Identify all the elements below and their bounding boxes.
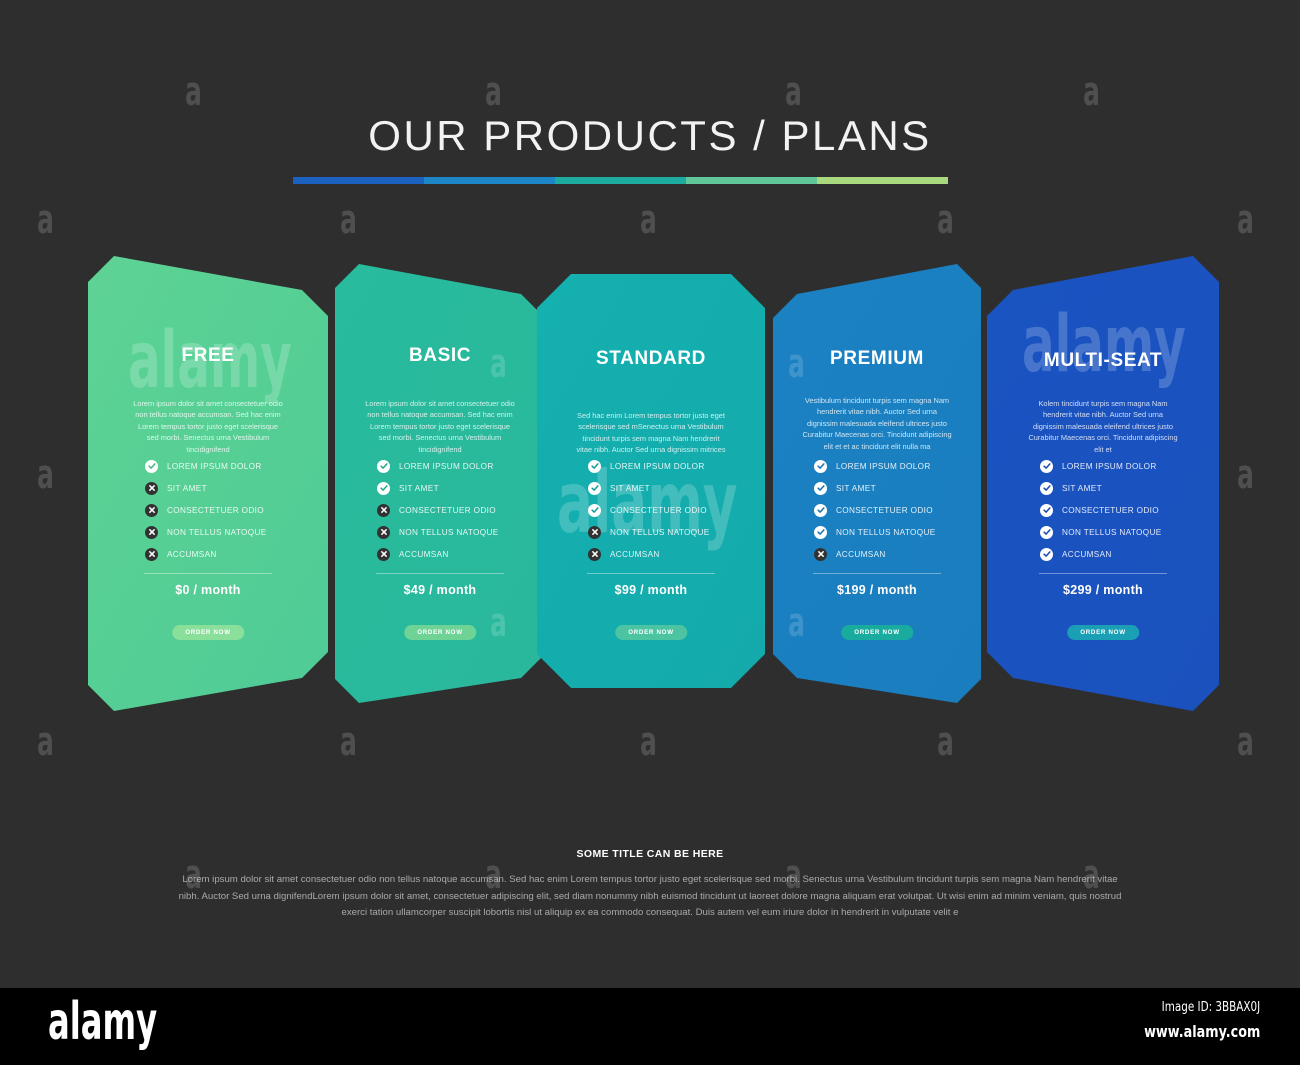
feature-row: NON TELLUS NATOQUE xyxy=(145,521,295,543)
feature-label: CONSECTETUER ODIO xyxy=(610,506,707,515)
alamy-watermark-overlay: alamy xyxy=(1022,306,1186,384)
cross-icon xyxy=(145,548,158,561)
gradient-divider-bar xyxy=(293,177,948,184)
feature-label: ACCUMSAN xyxy=(610,550,660,559)
feature-label: CONSECTETUER ODIO xyxy=(836,506,933,515)
watermark-glyph: a xyxy=(788,603,805,643)
pricing-card-free[interactable]: alamyFREELorem ipsum dolor sit amet cons… xyxy=(88,248,328,717)
feature-row: LOREM IPSUM DOLOR xyxy=(145,455,295,477)
feature-label: SIT AMET xyxy=(167,484,207,493)
watermark-glyph: a xyxy=(340,200,357,240)
gradient-segment-2 xyxy=(424,177,555,184)
cross-icon xyxy=(588,526,601,539)
cross-icon xyxy=(145,504,158,517)
check-icon xyxy=(377,460,390,473)
check-icon xyxy=(377,482,390,495)
card-description: Lorem ipsum dolor sit amet consectetuer … xyxy=(133,398,283,455)
feature-row: CONSECTETUER ODIO xyxy=(588,499,738,521)
feature-list: LOREM IPSUM DOLORSIT AMETCONSECTETUER OD… xyxy=(588,455,738,565)
check-icon xyxy=(814,460,827,473)
feature-label: NON TELLUS NATOQUE xyxy=(836,528,936,537)
feature-label: SIT AMET xyxy=(399,484,439,493)
watermark-glyph: a xyxy=(785,72,802,112)
check-icon xyxy=(814,482,827,495)
cross-icon xyxy=(377,548,390,561)
pricing-card-multi-seat[interactable]: alamyMULTI-SEATKolem tincidunt turpis se… xyxy=(987,248,1219,717)
watermark-glyph: a xyxy=(1083,72,1100,112)
card-price: $99 / month xyxy=(537,583,765,597)
card-title: BASIC xyxy=(335,345,545,367)
feature-label: ACCUMSAN xyxy=(1062,550,1112,559)
cross-icon xyxy=(814,548,827,561)
footer: SOME TITLE CAN BE HERE Lorem ipsum dolor… xyxy=(0,848,1300,922)
feature-row: CONSECTETUER ODIO xyxy=(1040,499,1190,521)
watermark-glyph: a xyxy=(37,722,54,762)
image-id-label: Image ID: 3BBAX0J xyxy=(1161,1000,1260,1015)
pricing-card-standard[interactable]: alamySTANDARDSed hac enim Lorem tempus t… xyxy=(537,248,765,694)
price-divider xyxy=(813,573,941,574)
feature-row: LOREM IPSUM DOLOR xyxy=(377,455,527,477)
feature-label: SIT AMET xyxy=(1062,484,1102,493)
check-icon xyxy=(1040,482,1053,495)
feature-row: LOREM IPSUM DOLOR xyxy=(588,455,738,477)
price-divider xyxy=(144,573,272,574)
feature-label: LOREM IPSUM DOLOR xyxy=(1062,462,1157,471)
feature-row: ACCUMSAN xyxy=(814,543,964,565)
card-title: FREE xyxy=(88,345,328,367)
feature-label: NON TELLUS NATOQUE xyxy=(1062,528,1162,537)
feature-label: NON TELLUS NATOQUE xyxy=(399,528,499,537)
order-now-button[interactable]: ORDER NOW xyxy=(841,625,913,640)
card-price: $299 / month xyxy=(987,583,1219,597)
card-title: STANDARD xyxy=(537,348,765,370)
feature-list: LOREM IPSUM DOLORSIT AMETCONSECTETUER OD… xyxy=(377,455,527,565)
feature-label: CONSECTETUER ODIO xyxy=(1062,506,1159,515)
price-divider xyxy=(1039,573,1167,574)
check-icon xyxy=(814,504,827,517)
feature-label: LOREM IPSUM DOLOR xyxy=(836,462,931,471)
check-icon xyxy=(814,526,827,539)
watermark-glyph: a xyxy=(640,200,657,240)
feature-row: NON TELLUS NATOQUE xyxy=(1040,521,1190,543)
page-title: OUR PRODUCTS / PLANS xyxy=(0,112,1300,160)
watermark-glyph: a xyxy=(1237,200,1254,240)
watermark-glyph: a xyxy=(490,603,507,643)
feature-label: LOREM IPSUM DOLOR xyxy=(610,462,705,471)
price-divider xyxy=(376,573,504,574)
watermark-glyph: a xyxy=(937,722,954,762)
card-description: Vestibulum tincidunt turpis sem magna Na… xyxy=(802,395,952,452)
pricing-card-premium[interactable]: aaPREMIUMVestibulum tincidunt turpis sem… xyxy=(773,248,981,709)
feature-row: ACCUMSAN xyxy=(377,543,527,565)
feature-list: LOREM IPSUM DOLORSIT AMETCONSECTETUER OD… xyxy=(145,455,295,565)
watermark-glyph: a xyxy=(185,72,202,112)
pricing-card-basic[interactable]: aaBASICLorem ipsum dolor sit amet consec… xyxy=(335,248,545,709)
check-icon xyxy=(588,460,601,473)
feature-row: NON TELLUS NATOQUE xyxy=(814,521,964,543)
feature-row: CONSECTETUER ODIO xyxy=(814,499,964,521)
order-now-button[interactable]: ORDER NOW xyxy=(615,625,687,640)
feature-row: SIT AMET xyxy=(377,477,527,499)
screenshot-root: aaaaaaaaaaaaaaaaaaaa OUR PRODUCTS / PLAN… xyxy=(0,0,1300,1065)
card-title: PREMIUM xyxy=(773,348,981,370)
card-description: Kolem tincidunt turpis sem magna Nam hen… xyxy=(1028,398,1178,455)
order-now-button[interactable]: ORDER NOW xyxy=(172,625,244,640)
cross-icon xyxy=(588,548,601,561)
footer-body: Lorem ipsum dolor sit amet consectetuer … xyxy=(178,872,1123,922)
feature-row: CONSECTETUER ODIO xyxy=(145,499,295,521)
feature-label: ACCUMSAN xyxy=(836,550,886,559)
pricing-cards: alamyFREELorem ipsum dolor sit amet cons… xyxy=(0,248,1300,718)
order-now-button[interactable]: ORDER NOW xyxy=(1067,625,1139,640)
gradient-segment-3 xyxy=(555,177,686,184)
check-icon xyxy=(588,482,601,495)
check-icon xyxy=(1040,460,1053,473)
feature-row: SIT AMET xyxy=(588,477,738,499)
watermark-glyph: a xyxy=(640,722,657,762)
watermark-glyph: a xyxy=(37,200,54,240)
feature-row: ACCUMSAN xyxy=(145,543,295,565)
feature-list: LOREM IPSUM DOLORSIT AMETCONSECTETUER OD… xyxy=(1040,455,1190,565)
gradient-segment-1 xyxy=(293,177,424,184)
watermark-glyph: a xyxy=(340,722,357,762)
price-divider xyxy=(587,573,715,574)
feature-row: LOREM IPSUM DOLOR xyxy=(814,455,964,477)
check-icon xyxy=(1040,526,1053,539)
feature-label: CONSECTETUER ODIO xyxy=(399,506,496,515)
footer-title: SOME TITLE CAN BE HERE xyxy=(0,848,1300,860)
check-icon xyxy=(1040,548,1053,561)
check-icon xyxy=(1040,504,1053,517)
watermark-glyph: a xyxy=(1237,722,1254,762)
feature-label: LOREM IPSUM DOLOR xyxy=(167,462,262,471)
alamy-url-label: www.alamy.com xyxy=(1144,1022,1260,1041)
feature-label: SIT AMET xyxy=(836,484,876,493)
feature-row: ACCUMSAN xyxy=(588,543,738,565)
feature-row: LOREM IPSUM DOLOR xyxy=(1040,455,1190,477)
alamy-logo: alamy xyxy=(48,996,157,1048)
header: OUR PRODUCTS / PLANS xyxy=(0,112,1300,160)
cross-icon xyxy=(377,504,390,517)
feature-row: CONSECTETUER ODIO xyxy=(377,499,527,521)
gradient-segment-4 xyxy=(686,177,817,184)
feature-row: SIT AMET xyxy=(145,477,295,499)
feature-label: CONSECTETUER ODIO xyxy=(167,506,264,515)
feature-label: NON TELLUS NATOQUE xyxy=(610,528,710,537)
order-now-button[interactable]: ORDER NOW xyxy=(404,625,476,640)
feature-label: ACCUMSAN xyxy=(167,550,217,559)
check-icon xyxy=(588,504,601,517)
cross-icon xyxy=(145,482,158,495)
feature-row: ACCUMSAN xyxy=(1040,543,1190,565)
card-price: $199 / month xyxy=(773,583,981,597)
card-title: MULTI-SEAT xyxy=(987,350,1219,372)
card-price: $49 / month xyxy=(335,583,545,597)
feature-label: NON TELLUS NATOQUE xyxy=(167,528,267,537)
watermark-glyph: a xyxy=(937,200,954,240)
watermark-glyph: a xyxy=(485,72,502,112)
card-description: Sed hac enim Lorem tempus tortor justo e… xyxy=(576,410,726,456)
cross-icon xyxy=(377,526,390,539)
feature-label: LOREM IPSUM DOLOR xyxy=(399,462,494,471)
stock-photo-bottom-bar: alamy Image ID: 3BBAX0J www.alamy.com xyxy=(0,988,1300,1065)
feature-label: ACCUMSAN xyxy=(399,550,449,559)
artwork-area: aaaaaaaaaaaaaaaaaaaa OUR PRODUCTS / PLAN… xyxy=(0,0,1300,988)
cross-icon xyxy=(145,526,158,539)
gradient-segment-5 xyxy=(817,177,948,184)
card-description: Lorem ipsum dolor sit amet consectetuer … xyxy=(365,398,515,455)
feature-row: NON TELLUS NATOQUE xyxy=(588,521,738,543)
feature-label: SIT AMET xyxy=(610,484,650,493)
feature-row: SIT AMET xyxy=(814,477,964,499)
feature-list: LOREM IPSUM DOLORSIT AMETCONSECTETUER OD… xyxy=(814,455,964,565)
card-price: $0 / month xyxy=(88,583,328,597)
feature-row: NON TELLUS NATOQUE xyxy=(377,521,527,543)
feature-row: SIT AMET xyxy=(1040,477,1190,499)
check-icon xyxy=(145,460,158,473)
